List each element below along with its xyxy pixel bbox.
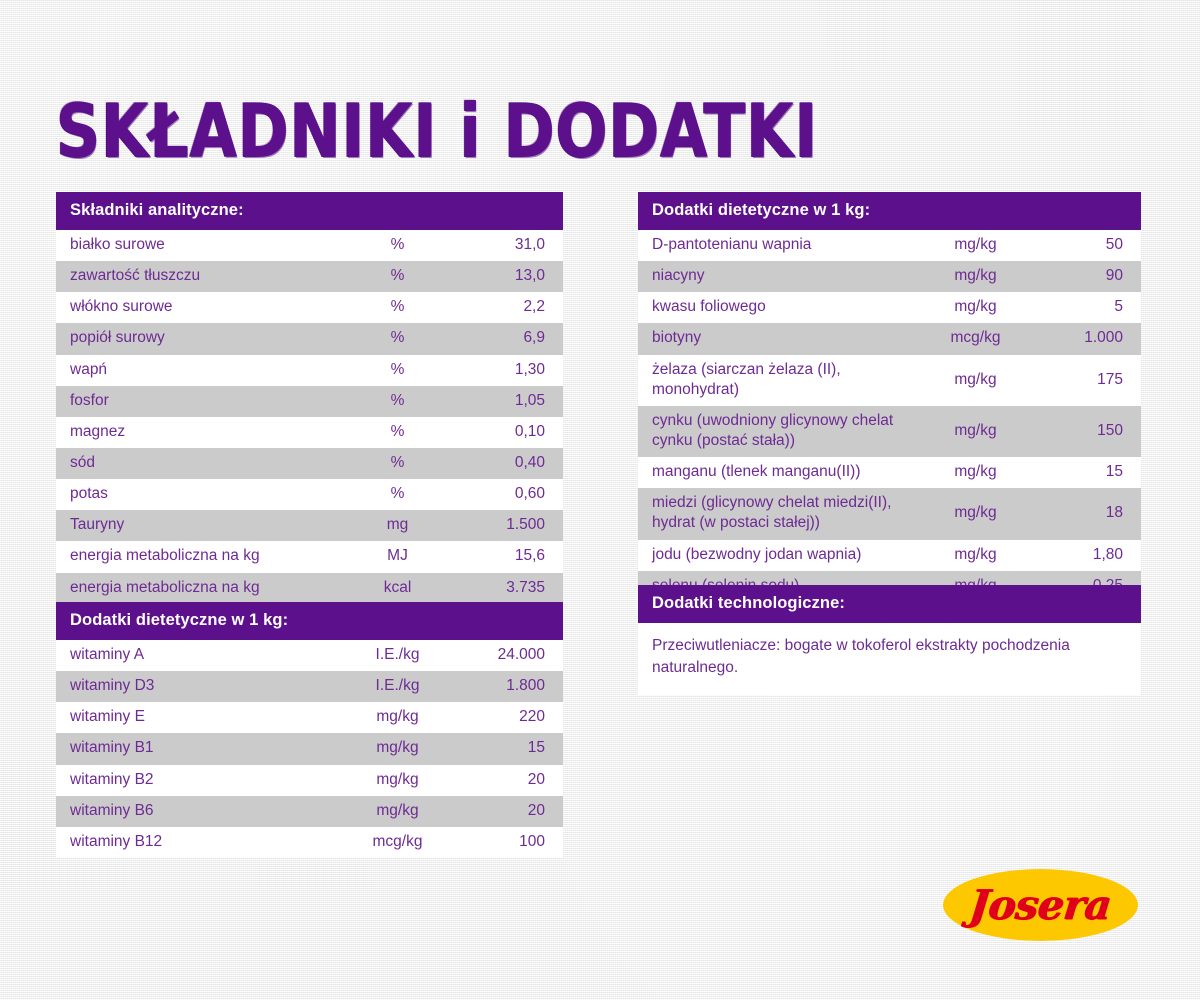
row-unit: I.E./kg — [350, 671, 445, 702]
table-header-minerals: Dodatki dietetyczne w 1 kg: — [638, 192, 1141, 230]
table-row: wapń%1,30 — [56, 355, 563, 386]
row-unit: % — [350, 448, 445, 479]
row-label: witaminy B1 — [56, 733, 350, 764]
row-unit: % — [350, 479, 445, 510]
row-label: witaminy B12 — [56, 827, 350, 858]
table-dietary-additives-minerals: Dodatki dietetyczne w 1 kg: D-pantotenia… — [638, 192, 1141, 602]
row-label: witaminy A — [56, 640, 350, 671]
row-unit: % — [350, 261, 445, 292]
table-row: witaminy D3I.E./kg1.800 — [56, 671, 563, 702]
josera-logo: Josera — [943, 869, 1138, 941]
row-unit: mg/kg — [928, 416, 1023, 447]
logo-wordmark: Josera — [939, 869, 1142, 941]
table-body-vitamins: witaminy AI.E./kg24.000witaminy D3I.E./k… — [56, 640, 563, 858]
row-label: kwasu foliowego — [638, 292, 928, 323]
row-label: cynku (uwodniony glicynowy chelat cynku … — [638, 406, 928, 457]
table-row: witaminy B1mg/kg15 — [56, 733, 563, 764]
table-row: D-pantotenianu wapniamg/kg50 — [638, 230, 1141, 261]
row-label: witaminy B2 — [56, 765, 350, 796]
row-value: 5 — [1023, 292, 1141, 323]
row-value: 1.000 — [1023, 323, 1141, 354]
table-row: witaminy B2mg/kg20 — [56, 765, 563, 796]
row-value: 1.800 — [445, 671, 563, 702]
row-value: 13,0 — [445, 261, 563, 292]
row-label: fosfor — [56, 386, 350, 417]
table-row: włókno surowe%2,2 — [56, 292, 563, 323]
row-label: białko surowe — [56, 230, 350, 261]
row-unit: % — [350, 417, 445, 448]
row-unit: % — [350, 355, 445, 386]
table-row: potas%0,60 — [56, 479, 563, 510]
row-value: 0,10 — [445, 417, 563, 448]
row-value: 24.000 — [445, 640, 563, 671]
table-row: sód%0,40 — [56, 448, 563, 479]
row-label: D-pantotenianu wapnia — [638, 230, 928, 261]
table-body-minerals: D-pantotenianu wapniamg/kg50niacynymg/kg… — [638, 230, 1141, 602]
row-label: energia metaboliczna na kg — [56, 541, 350, 572]
table-header-analytical: Składniki analityczne: — [56, 192, 563, 230]
row-unit: % — [350, 292, 445, 323]
technological-additives-text: Przeciwutleniacze: bogate w tokoferol ek… — [638, 623, 1141, 695]
row-label: potas — [56, 479, 350, 510]
row-value: 20 — [445, 796, 563, 827]
row-value: 15 — [1023, 457, 1141, 488]
ingredients-page: SKŁADNIKI i DODATKI Składniki analityczn… — [0, 0, 1200, 1000]
table-row: energia metaboliczna na kgkcal3.735 — [56, 573, 563, 604]
table-row: popiół surowy%6,9 — [56, 323, 563, 354]
row-value: 150 — [1023, 416, 1141, 447]
row-label: miedzi (glicynowy chelat miedzi(II), hyd… — [638, 488, 928, 539]
row-unit: I.E./kg — [350, 640, 445, 671]
row-unit: MJ — [350, 541, 445, 572]
row-unit: mg/kg — [350, 733, 445, 764]
row-value: 18 — [1023, 498, 1141, 529]
row-label: zawartość tłuszczu — [56, 261, 350, 292]
row-label: energia metaboliczna na kg — [56, 573, 350, 604]
row-value: 15,6 — [445, 541, 563, 572]
row-unit: mg/kg — [928, 292, 1023, 323]
row-unit: mg/kg — [928, 261, 1023, 292]
row-label: włókno surowe — [56, 292, 350, 323]
row-label: żelaza (siarczan żelaza (II), monohydrat… — [638, 355, 928, 406]
row-label: witaminy D3 — [56, 671, 350, 702]
row-value: 175 — [1023, 365, 1141, 396]
row-value: 1,05 — [445, 386, 563, 417]
table-row: biotynymcg/kg1.000 — [638, 323, 1141, 354]
row-value: 15 — [445, 733, 563, 764]
row-unit: mg/kg — [928, 498, 1023, 529]
table-row: witaminy AI.E./kg24.000 — [56, 640, 563, 671]
row-value: 90 — [1023, 261, 1141, 292]
table-row: kwasu foliowegomg/kg5 — [638, 292, 1141, 323]
row-label: niacyny — [638, 261, 928, 292]
table-dietary-additives-vitamins: Dodatki dietetyczne w 1 kg: witaminy AI.… — [56, 602, 563, 858]
table-row: miedzi (glicynowy chelat miedzi(II), hyd… — [638, 488, 1141, 539]
table-row: niacynymg/kg90 — [638, 261, 1141, 292]
row-value: 0,60 — [445, 479, 563, 510]
row-value: 220 — [445, 702, 563, 733]
table-row: witaminy Emg/kg220 — [56, 702, 563, 733]
row-unit: mg/kg — [350, 702, 445, 733]
row-unit: % — [350, 323, 445, 354]
table-technological-additives: Dodatki technologiczne: Przeciwutleniacz… — [638, 585, 1141, 695]
row-label: wapń — [56, 355, 350, 386]
row-value: 100 — [445, 827, 563, 858]
table-row: manganu (tlenek manganu(II))mg/kg15 — [638, 457, 1141, 488]
row-unit: mg/kg — [928, 230, 1023, 261]
row-label: biotyny — [638, 323, 928, 354]
row-label: sód — [56, 448, 350, 479]
row-value: 31,0 — [445, 230, 563, 261]
row-label: Tauryny — [56, 510, 350, 541]
row-value: 50 — [1023, 230, 1141, 261]
row-unit: mg/kg — [350, 796, 445, 827]
row-unit: mcg/kg — [928, 323, 1023, 354]
row-label: popiół surowy — [56, 323, 350, 354]
table-row: energia metaboliczna na kgMJ15,6 — [56, 541, 563, 572]
row-value: 1,80 — [1023, 540, 1141, 571]
row-unit: mg/kg — [928, 365, 1023, 396]
row-label: witaminy E — [56, 702, 350, 733]
row-unit: mg/kg — [350, 765, 445, 796]
row-unit: kcal — [350, 573, 445, 604]
table-body-analytical: białko surowe%31,0zawartość tłuszczu%13,… — [56, 230, 563, 604]
table-row: witaminy B12mcg/kg100 — [56, 827, 563, 858]
row-value: 6,9 — [445, 323, 563, 354]
table-header-technological: Dodatki technologiczne: — [638, 585, 1141, 623]
table-row: zawartość tłuszczu%13,0 — [56, 261, 563, 292]
row-value: 0,40 — [445, 448, 563, 479]
table-row: białko surowe%31,0 — [56, 230, 563, 261]
row-unit: mg/kg — [928, 540, 1023, 571]
table-row: jodu (bezwodny jodan wapnia)mg/kg1,80 — [638, 540, 1141, 571]
row-label: manganu (tlenek manganu(II)) — [638, 457, 928, 488]
table-row: żelaza (siarczan żelaza (II), monohydrat… — [638, 355, 1141, 406]
table-analytical-constituents: Składniki analityczne: białko surowe%31,… — [56, 192, 563, 604]
row-label: jodu (bezwodny jodan wapnia) — [638, 540, 928, 571]
table-header-vitamins: Dodatki dietetyczne w 1 kg: — [56, 602, 563, 640]
row-unit: % — [350, 230, 445, 261]
row-value: 1,30 — [445, 355, 563, 386]
row-unit: mg — [350, 510, 445, 541]
table-row: cynku (uwodniony glicynowy chelat cynku … — [638, 406, 1141, 457]
row-value: 20 — [445, 765, 563, 796]
row-unit: mcg/kg — [350, 827, 445, 858]
row-unit: mg/kg — [928, 457, 1023, 488]
row-unit: % — [350, 386, 445, 417]
page-title: SKŁADNIKI i DODATKI — [56, 94, 818, 168]
table-row: fosfor%1,05 — [56, 386, 563, 417]
row-label: witaminy B6 — [56, 796, 350, 827]
table-row: Taurynymg1.500 — [56, 510, 563, 541]
table-row: witaminy B6mg/kg20 — [56, 796, 563, 827]
row-value: 1.500 — [445, 510, 563, 541]
row-value: 2,2 — [445, 292, 563, 323]
row-label: magnez — [56, 417, 350, 448]
table-row: magnez%0,10 — [56, 417, 563, 448]
row-value: 3.735 — [445, 573, 563, 604]
